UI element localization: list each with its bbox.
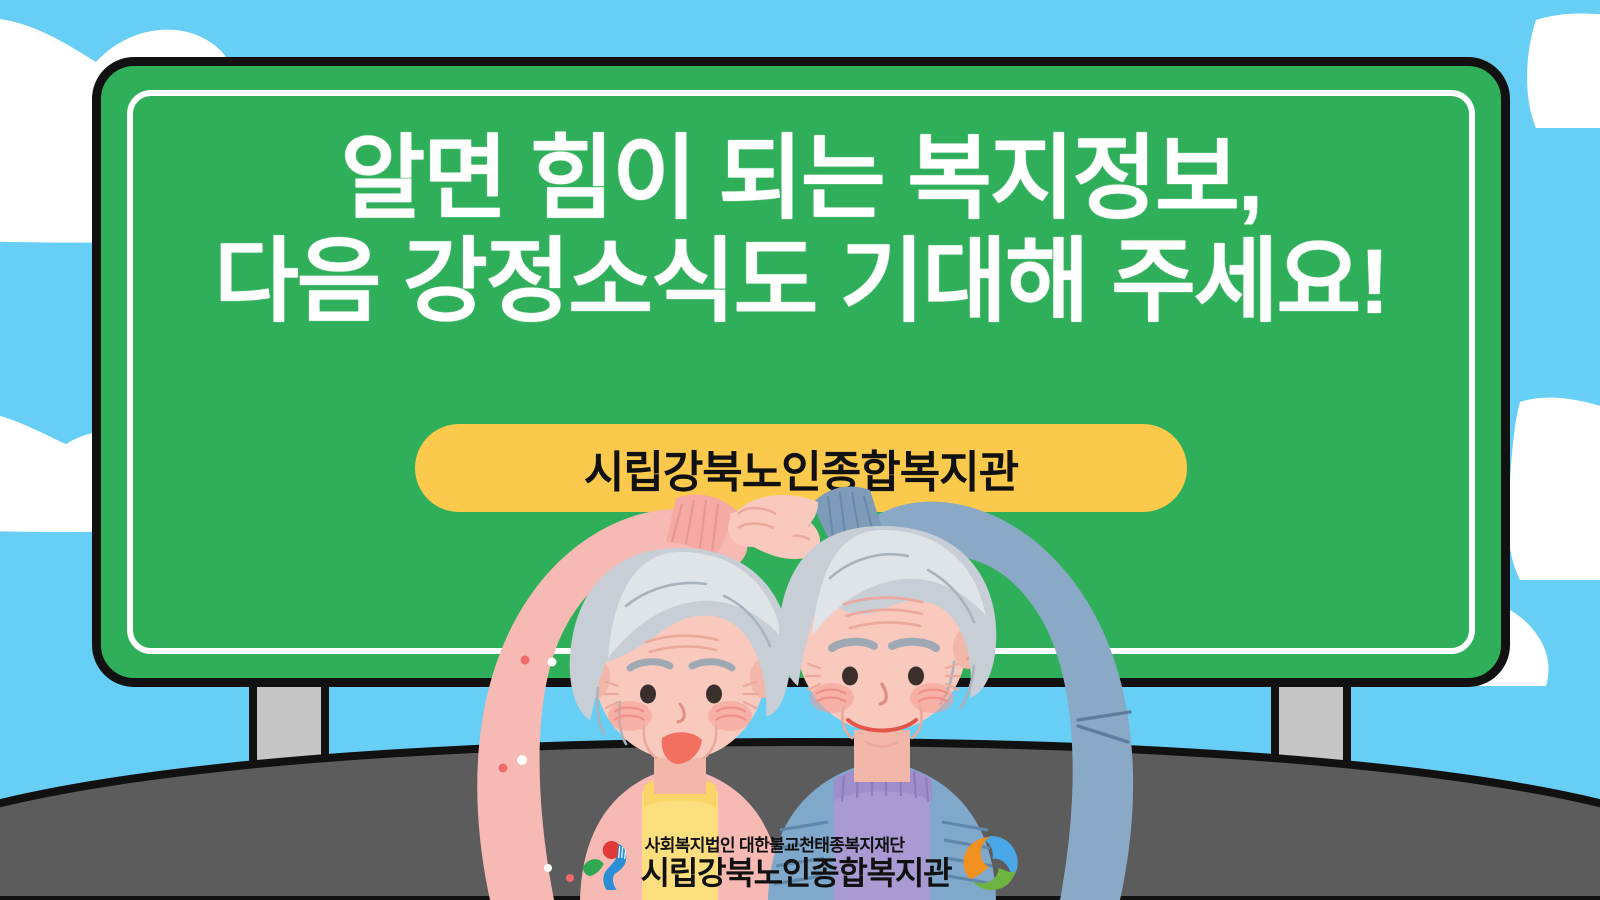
chuntae-foundation-mark-icon [579, 834, 635, 892]
elderly-couple-illustration [430, 430, 1170, 900]
logo-text-block: 사회복지법인 대한불교천태종복지재단 시립강북노인종합복지관 [641, 837, 952, 889]
man-eye-left [842, 667, 858, 686]
logo-center-name: 시립강북노인종합복지관 [641, 857, 952, 889]
woman-eye-right [706, 685, 722, 704]
organization-logo: 사회복지법인 대한불교천태종복지재단 시립강북노인종합복지관 [579, 832, 1022, 894]
headline-text: 알면 힘이 되는 복지정보, 다음 강정소식도 기대해 주세요! [101, 128, 1501, 334]
poster-canvas: 알면 힘이 되는 복지정보, 다음 강정소식도 기대해 주세요! 시립강북노인종… [0, 0, 1600, 900]
man-eye-right [908, 667, 924, 686]
woman-eye-left [640, 685, 656, 704]
logo-foundation-line: 사회복지법인 대한불교천태종복지재단 [641, 837, 905, 854]
man-neck [854, 730, 910, 782]
circular-swirl-mark-icon [959, 832, 1021, 894]
